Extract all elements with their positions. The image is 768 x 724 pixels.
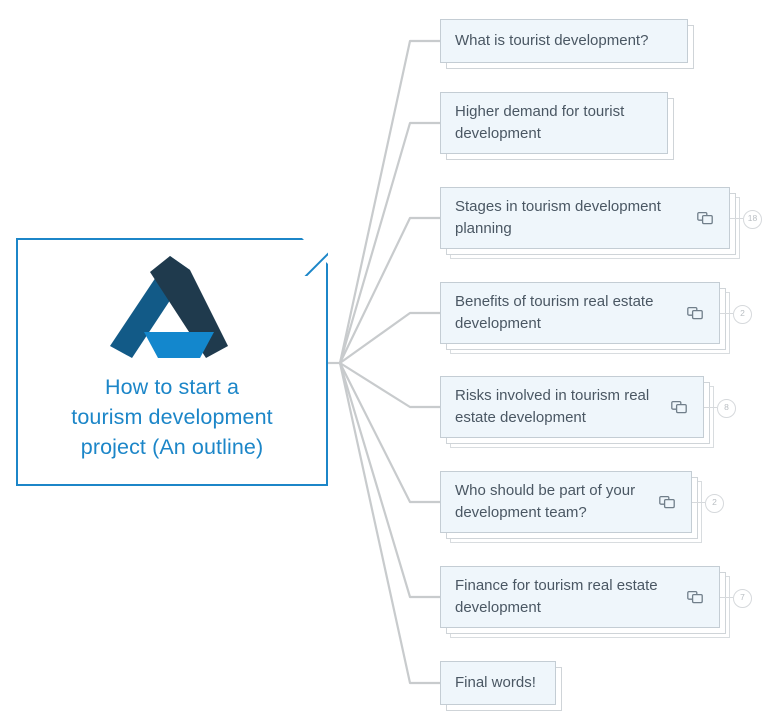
topic-card[interactable]: Benefits of tourism real estate developm… — [440, 282, 720, 344]
badge-stem — [692, 502, 705, 503]
topic-node[interactable]: Who should be part of your development t… — [440, 471, 692, 533]
corner-fold-line — [290, 238, 328, 276]
copy-duplicate-icon[interactable] — [687, 589, 703, 605]
topic-card[interactable]: What is tourist development? — [440, 19, 688, 63]
topic-node[interactable]: What is tourist development? — [440, 19, 688, 63]
mind-map-canvas: How to start a tourism development proje… — [0, 0, 768, 724]
topic-node[interactable]: Stages in tourism development planning 1… — [440, 187, 730, 249]
root-node[interactable]: How to start a tourism development proje… — [16, 238, 328, 486]
connector-2 — [340, 123, 440, 363]
connector-4 — [340, 313, 440, 363]
root-title: How to start a tourism development proje… — [61, 372, 282, 462]
connector-1 — [340, 41, 440, 363]
topic-node[interactable]: Higher demand for tourist development — [440, 92, 668, 154]
child-count-badge[interactable]: 2 — [705, 494, 724, 513]
topic-label: What is tourist development? — [455, 30, 673, 52]
topic-card[interactable]: Risks involved in tourism real estate de… — [440, 376, 704, 438]
topic-card[interactable]: Higher demand for tourist development — [440, 92, 668, 154]
copy-duplicate-icon[interactable] — [671, 399, 687, 415]
badge-stem — [720, 313, 733, 314]
topic-node[interactable]: Benefits of tourism real estate developm… — [440, 282, 720, 344]
topic-card[interactable]: Final words! — [440, 661, 556, 705]
topic-node[interactable]: Final words! — [440, 661, 556, 705]
copy-duplicate-icon[interactable] — [687, 305, 703, 321]
child-count-badge[interactable]: 18 — [743, 210, 762, 229]
topic-label: Finance for tourism real estate developm… — [455, 575, 677, 619]
topic-card[interactable]: Stages in tourism development planning — [440, 187, 730, 249]
badge-stem — [730, 218, 743, 219]
topic-label: Higher demand for tourist development — [455, 101, 653, 145]
topic-label: Stages in tourism development planning — [455, 196, 687, 240]
triangle-a-logo — [106, 254, 238, 366]
topic-label: Final words! — [455, 672, 541, 694]
topic-label: Benefits of tourism real estate developm… — [455, 291, 677, 335]
copy-duplicate-icon[interactable] — [659, 494, 675, 510]
child-count-badge[interactable]: 2 — [733, 305, 752, 324]
connector-7 — [340, 363, 440, 597]
topic-label: Risks involved in tourism real estate de… — [455, 385, 661, 429]
connector-8 — [340, 363, 440, 683]
child-count-badge[interactable]: 8 — [717, 399, 736, 418]
connector-5 — [340, 363, 440, 407]
copy-duplicate-icon[interactable] — [697, 210, 713, 226]
topic-node[interactable]: Finance for tourism real estate developm… — [440, 566, 720, 628]
topic-card[interactable]: Finance for tourism real estate developm… — [440, 566, 720, 628]
topic-node[interactable]: Risks involved in tourism real estate de… — [440, 376, 704, 438]
child-count-badge[interactable]: 7 — [733, 589, 752, 608]
topic-card[interactable]: Who should be part of your development t… — [440, 471, 692, 533]
connector-6 — [340, 363, 440, 502]
connector-3 — [340, 218, 440, 363]
topic-label: Who should be part of your development t… — [455, 480, 649, 524]
badge-stem — [704, 407, 717, 408]
badge-stem — [720, 597, 733, 598]
